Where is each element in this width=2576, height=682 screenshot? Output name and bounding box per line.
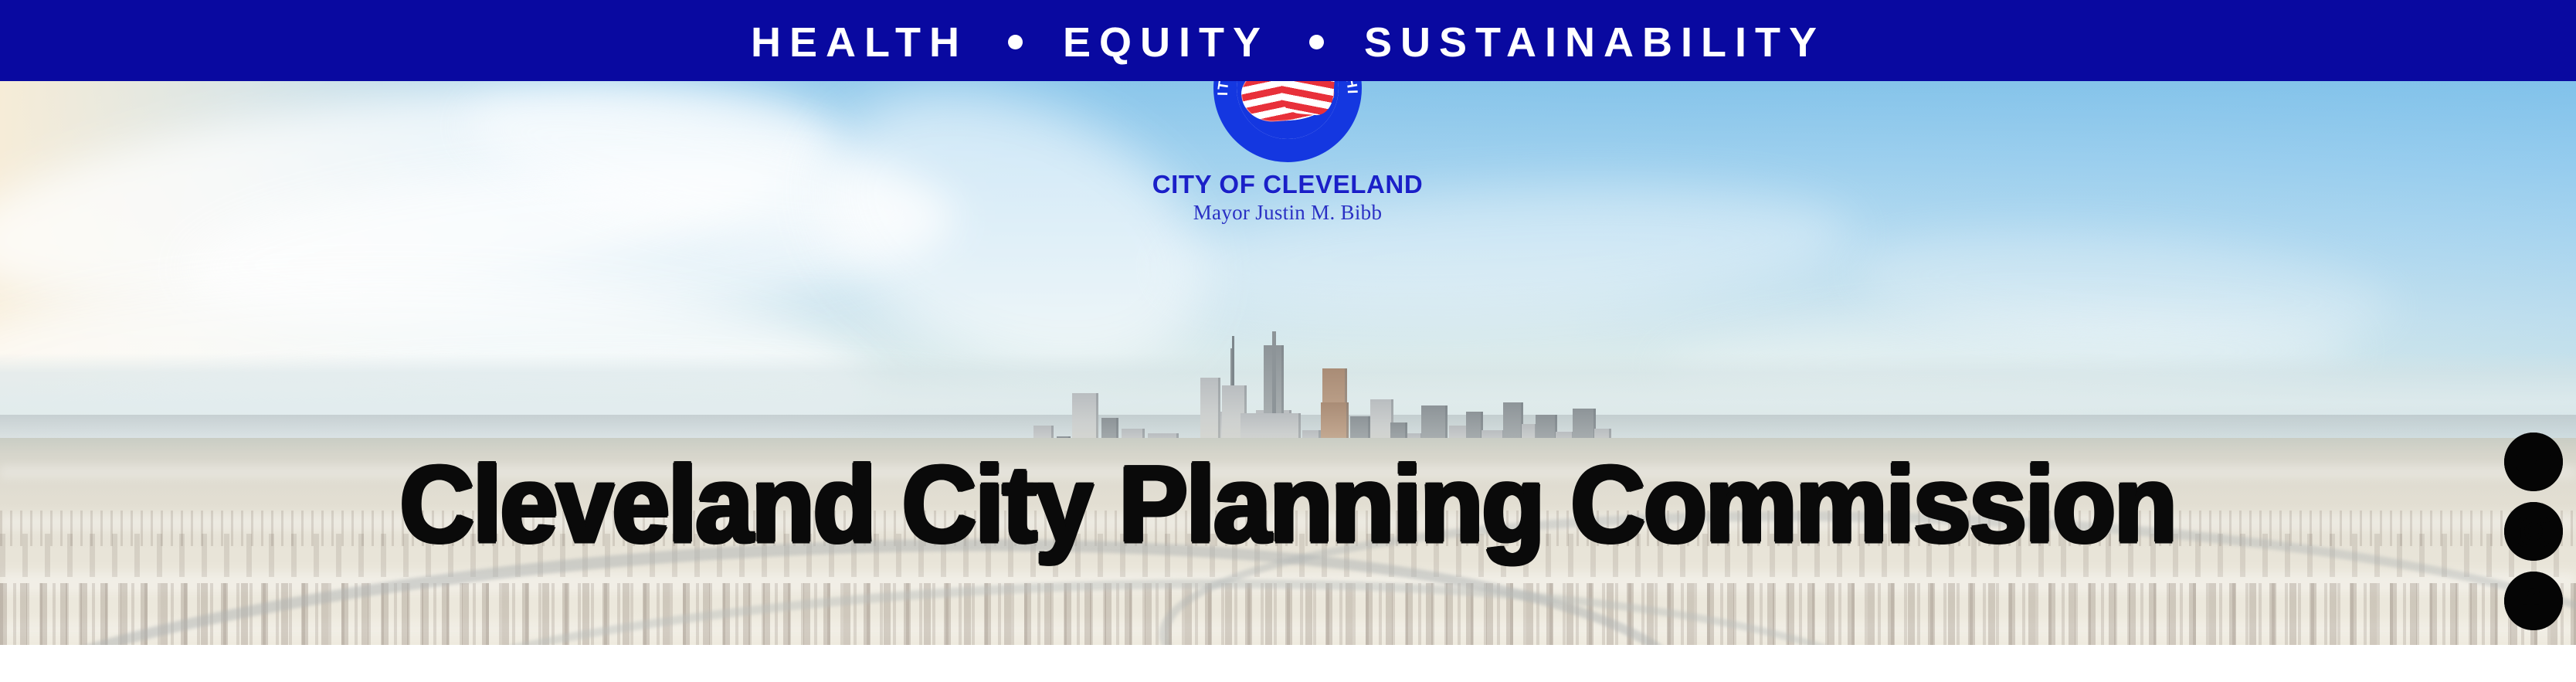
bottom-white-strip — [0, 645, 2576, 682]
banner-page: HEALTH EQUITY SUSTAINABILITY — [0, 0, 2576, 682]
social-media-rail — [2504, 433, 2564, 630]
tagline-bar: HEALTH EQUITY SUSTAINABILITY — [0, 0, 2576, 81]
instagram-link[interactable] — [2504, 502, 2563, 561]
tagline-separator-dot-1 — [1008, 35, 1023, 49]
youtube-link[interactable] — [2504, 433, 2563, 491]
tagline-word-equity: EQUITY — [1063, 19, 1269, 63]
facebook-icon[interactable] — [2504, 572, 2563, 630]
city-name-label: CITY OF CLEVELAND — [1122, 171, 1454, 198]
mayor-name-label: Mayor Justin M. Bibb — [1122, 202, 1454, 225]
tagline-separator-dot-2 — [1309, 35, 1324, 49]
facebook-link[interactable] — [2504, 572, 2563, 630]
youtube-icon[interactable] — [2504, 433, 2563, 491]
instagram-icon[interactable] — [2504, 502, 2563, 561]
snow-band — [0, 466, 2576, 478]
tagline-word-sustainability: SUSTAINABILITY — [1364, 19, 1825, 63]
tagline-word-health: HEALTH — [751, 19, 968, 63]
